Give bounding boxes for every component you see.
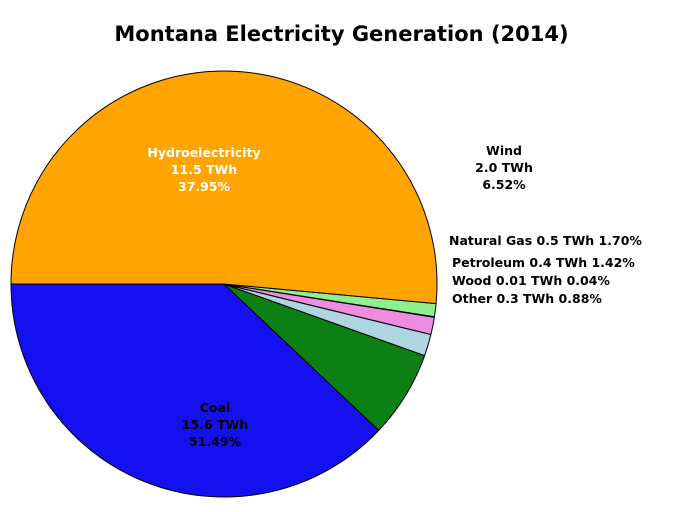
slice-label-wood: Wood 0.01 TWh 0.04% (452, 272, 610, 289)
slice-label-hydroelectricity-percent: 37.95% (129, 178, 279, 195)
slice-label-coal-value: 15.6 TWh (150, 416, 280, 433)
slice-label-other: Other 0.3 TWh 0.88% (452, 290, 602, 307)
slice-label-wind-name: Wind (449, 142, 559, 159)
slice-label-hydroelectricity-name: Hydroelectricity (129, 144, 279, 161)
slice-label-coal-name: Coal (150, 399, 280, 416)
slice-label-wind-value: 2.0 TWh (449, 159, 559, 176)
slice-label-natural-gas: Natural Gas 0.5 TWh 1.70% (449, 232, 642, 249)
slice-label-coal-percent: 51.49% (150, 433, 280, 450)
slice-label-hydroelectricity: Hydroelectricity 11.5 TWh 37.95% (129, 144, 279, 195)
slice-label-wind-percent: 6.52% (449, 176, 559, 193)
slice-label-petroleum: Petroleum 0.4 TWh 1.42% (452, 254, 635, 271)
slice-label-hydroelectricity-value: 11.5 TWh (129, 161, 279, 178)
pie-chart-figure: Montana Electricity Generation (2014) Hy… (0, 0, 683, 512)
slice-label-wind: Wind 2.0 TWh 6.52% (449, 142, 559, 193)
slice-label-coal: Coal 15.6 TWh 51.49% (150, 399, 280, 450)
